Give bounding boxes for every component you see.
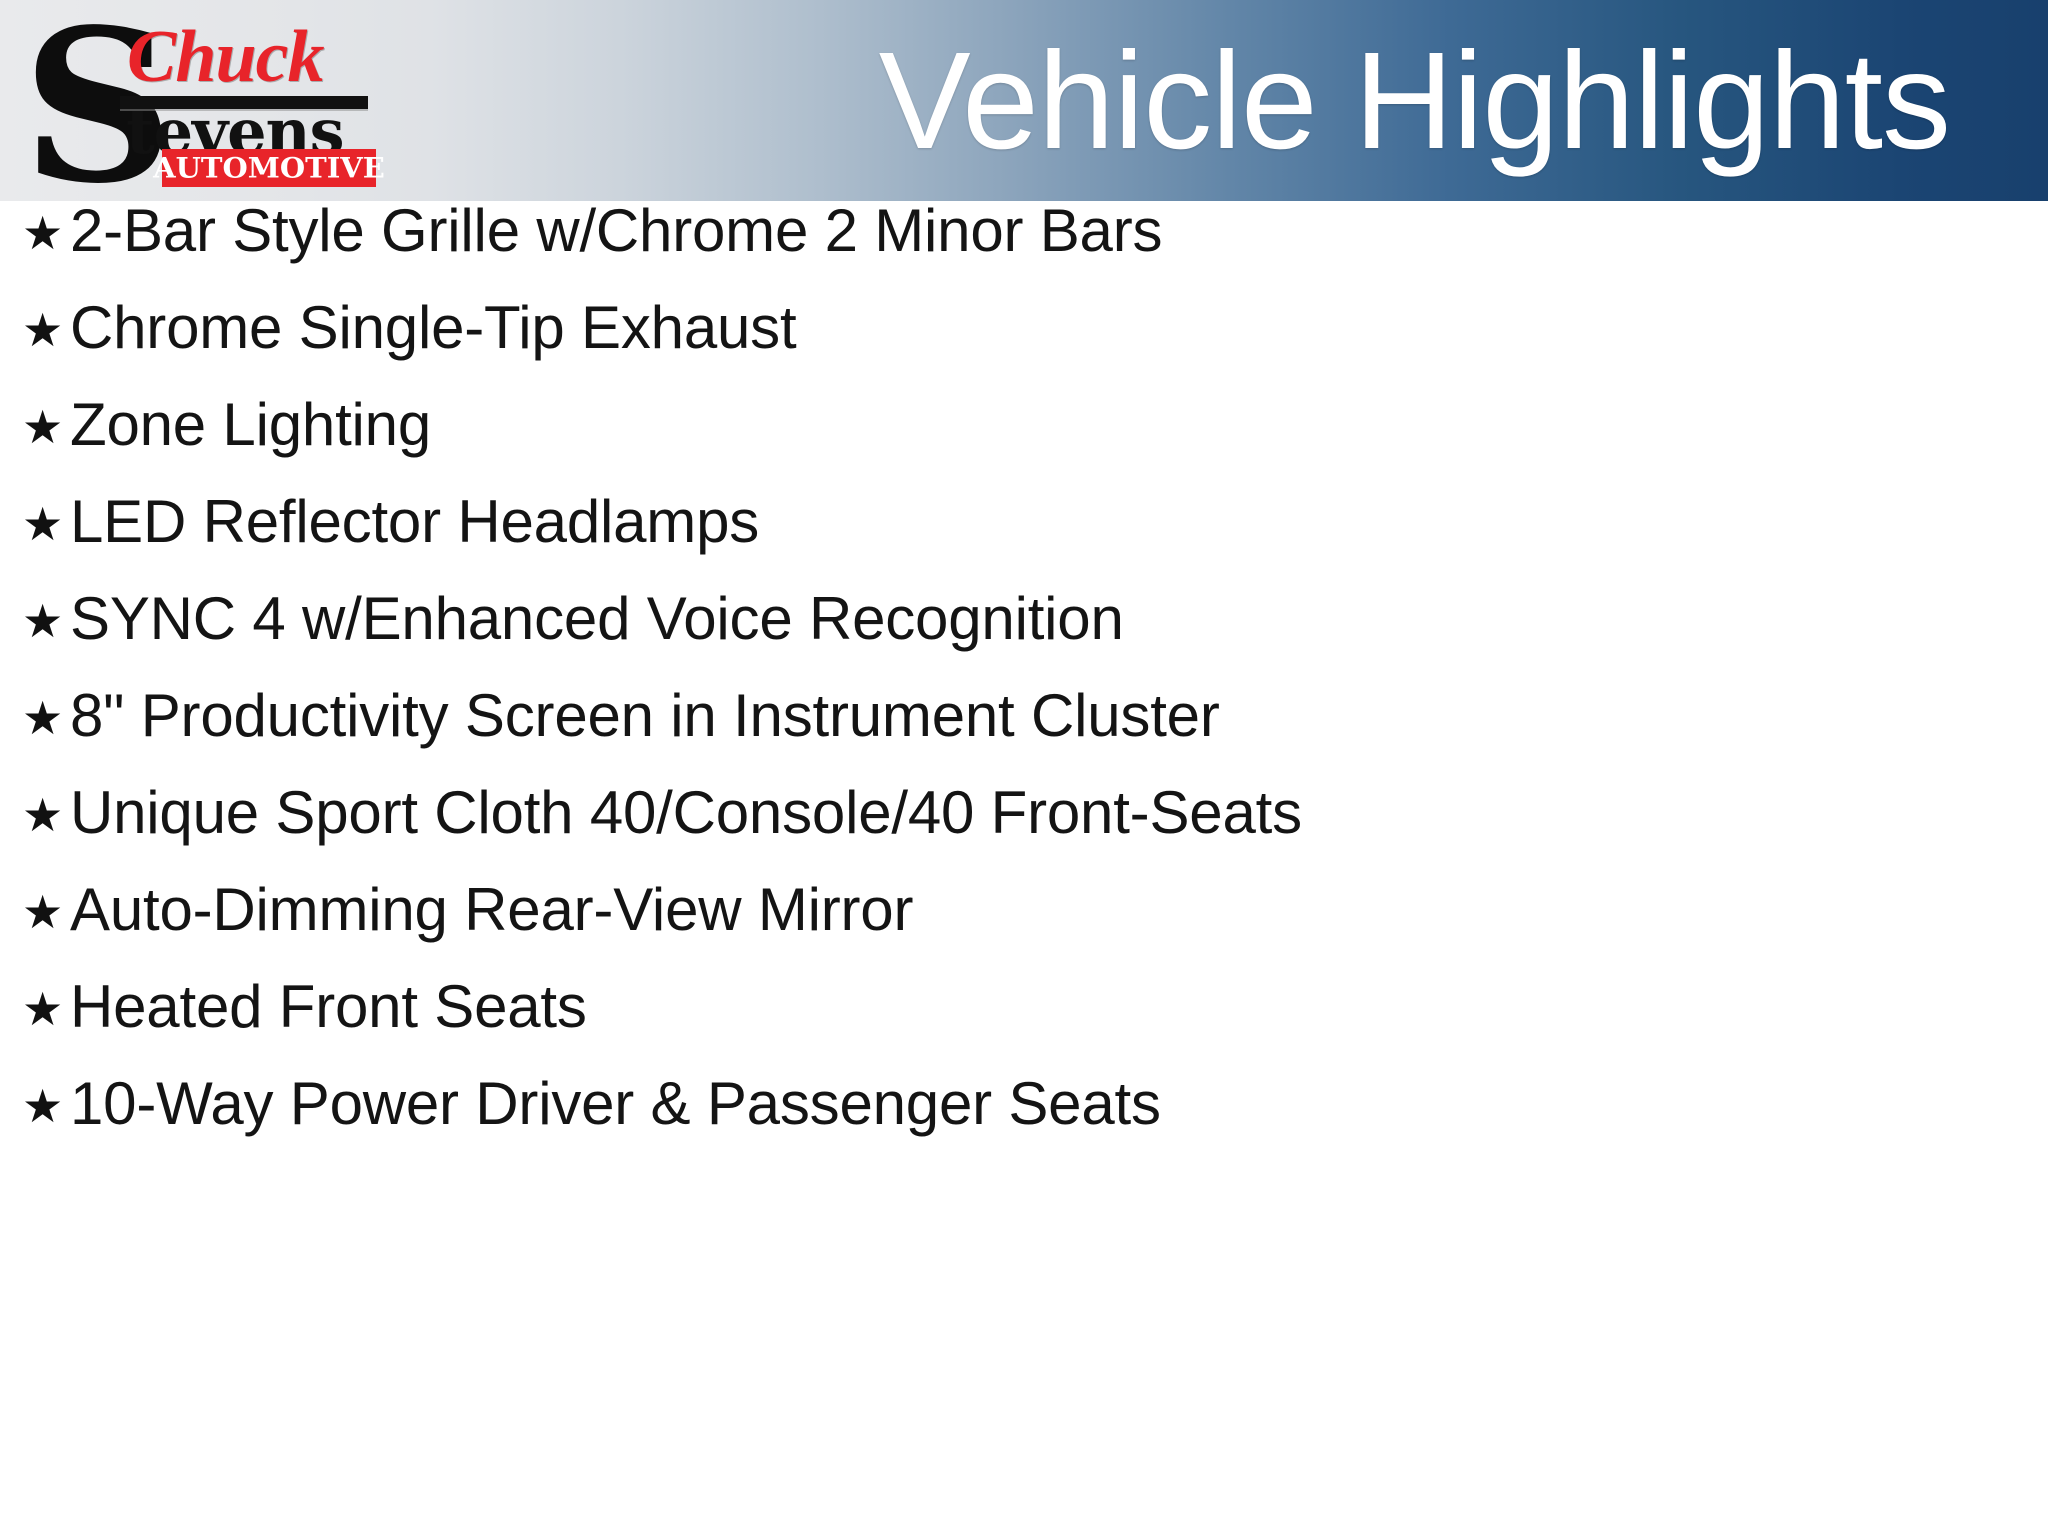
highlight-label: Zone Lighting	[70, 395, 431, 455]
star-bullet-icon: ★	[22, 792, 70, 838]
logo-tagline: AUTOMOTIVE	[153, 154, 385, 182]
list-item: ★LED Reflector Headlamps	[0, 492, 2048, 589]
highlight-label: Auto-Dimming Rear-View Mirror	[70, 880, 913, 940]
list-item: ★Unique Sport Cloth 40/Console/40 Front-…	[0, 783, 2048, 880]
list-item: ★Zone Lighting	[0, 395, 2048, 492]
highlight-label: LED Reflector Headlamps	[70, 492, 759, 552]
highlight-label: 10-Way Power Driver & Passenger Seats	[70, 1074, 1161, 1134]
page-header: S Chuck tevens AUTOMOTIVE Vehicle Highli…	[0, 0, 2048, 201]
highlight-label: Heated Front Seats	[70, 977, 587, 1037]
highlight-label: SYNC 4 w/Enhanced Voice Recognition	[70, 589, 1124, 649]
star-bullet-icon: ★	[22, 210, 70, 256]
star-bullet-icon: ★	[22, 986, 70, 1032]
star-bullet-icon: ★	[22, 404, 70, 450]
star-bullet-icon: ★	[22, 307, 70, 353]
star-bullet-icon: ★	[22, 1083, 70, 1129]
page-title: Vehicle Highlights	[570, 0, 1990, 201]
vehicle-highlights-page: S Chuck tevens AUTOMOTIVE Vehicle Highli…	[0, 0, 2048, 1536]
list-item: ★Auto-Dimming Rear-View Mirror	[0, 880, 2048, 977]
highlight-label: 8" Productivity Screen in Instrument Clu…	[70, 686, 1220, 746]
list-item: ★2-Bar Style Grille w/Chrome 2 Minor Bar…	[0, 201, 2048, 298]
vehicle-highlights-list: ★2-Bar Style Grille w/Chrome 2 Minor Bar…	[0, 201, 2048, 1536]
list-item: ★8" Productivity Screen in Instrument Cl…	[0, 686, 2048, 783]
star-bullet-icon: ★	[22, 598, 70, 644]
list-item: ★Chrome Single-Tip Exhaust	[0, 298, 2048, 395]
list-item: ★10-Way Power Driver & Passenger Seats	[0, 1074, 2048, 1171]
star-bullet-icon: ★	[22, 695, 70, 741]
highlight-label: Unique Sport Cloth 40/Console/40 Front-S…	[70, 783, 1302, 843]
logo-automotive-bar: AUTOMOTIVE	[162, 149, 376, 187]
star-bullet-icon: ★	[22, 889, 70, 935]
highlight-label: 2-Bar Style Grille w/Chrome 2 Minor Bars	[70, 201, 1162, 261]
list-item: ★SYNC 4 w/Enhanced Voice Recognition	[0, 589, 2048, 686]
star-bullet-icon: ★	[22, 501, 70, 547]
logo-name-chuck: Chuck	[127, 20, 324, 94]
dealer-logo[interactable]: S Chuck tevens AUTOMOTIVE	[22, 8, 372, 193]
list-item: ★Heated Front Seats	[0, 977, 2048, 1074]
highlight-label: Chrome Single-Tip Exhaust	[70, 298, 796, 358]
